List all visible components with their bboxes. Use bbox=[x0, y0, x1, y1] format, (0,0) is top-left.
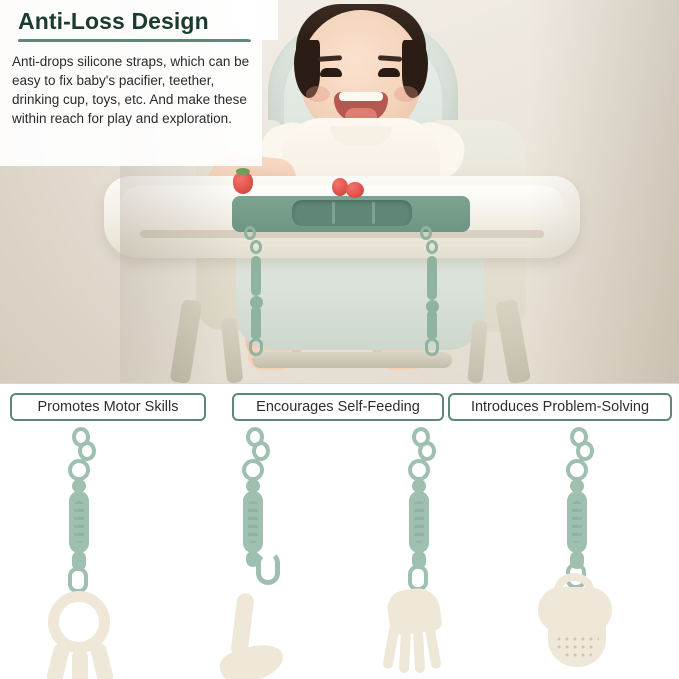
section-divider bbox=[0, 383, 679, 384]
strap-ring-icon bbox=[408, 459, 430, 481]
plate-compartment bbox=[292, 200, 412, 226]
product-infographic: Anti-Loss Design Anti-drops silicone str… bbox=[0, 0, 679, 679]
strap-ring-icon bbox=[68, 459, 90, 481]
strap-clip-icon bbox=[68, 567, 88, 593]
title-underline bbox=[18, 39, 251, 42]
photo-vignette-right bbox=[529, 0, 679, 383]
plate-divider bbox=[372, 202, 375, 224]
feature-title-block: Anti-Loss Design bbox=[18, 8, 254, 42]
baby-cheek-right bbox=[394, 86, 418, 102]
teether-finger bbox=[399, 629, 411, 673]
product-hand-rake-teether-toy bbox=[344, 425, 514, 675]
teether-finger bbox=[424, 624, 441, 669]
strap-band bbox=[409, 491, 429, 553]
feeder-mesh-pouch bbox=[548, 625, 606, 667]
benefit-label-text: Promotes Motor Skills bbox=[37, 399, 178, 415]
strap-band bbox=[567, 491, 587, 553]
feature-text-panel: Anti-Loss Design Anti-drops silicone str… bbox=[0, 0, 262, 166]
panel-corner-curve bbox=[232, 0, 278, 40]
strap-clip-icon bbox=[408, 565, 428, 591]
product-fruit-feeder-pacifier bbox=[508, 425, 678, 675]
strap-clip-icon bbox=[256, 551, 280, 585]
teether-prong bbox=[45, 642, 71, 679]
product-spoon-toy bbox=[174, 425, 344, 675]
strap-band bbox=[243, 491, 263, 553]
benefit-label-encourages-self-feeding: Encourages Self-Feeding bbox=[232, 393, 444, 421]
benefit-label-promotes-motor-skills: Promotes Motor Skills bbox=[10, 393, 206, 421]
product-ring-teether-toy bbox=[4, 425, 174, 675]
strap-ring-icon bbox=[566, 459, 588, 481]
benefits-section: Promotes Motor Skills Encourages Self-Fe… bbox=[0, 383, 679, 679]
strawberry-icon bbox=[346, 182, 364, 198]
teether-prong bbox=[89, 642, 115, 679]
baby-cheek-left bbox=[306, 86, 330, 102]
baby-teeth bbox=[339, 92, 383, 101]
feature-description: Anti-drops silicone straps, which can be… bbox=[12, 52, 256, 128]
page-title: Anti-Loss Design bbox=[18, 8, 209, 35]
benefit-label-text: Introduces Problem-Solving bbox=[471, 399, 649, 415]
plate-divider bbox=[332, 202, 335, 224]
spoon-bowl bbox=[217, 640, 287, 679]
strap-band bbox=[69, 491, 89, 553]
strap-ring-icon bbox=[242, 459, 264, 481]
benefit-label-text: Encourages Self-Feeding bbox=[256, 399, 420, 415]
baby-eye-left bbox=[320, 68, 342, 77]
teether-prong bbox=[72, 649, 88, 679]
lifestyle-photo: Anti-Loss Design Anti-drops silicone str… bbox=[0, 0, 679, 383]
benefit-label-introduces-problem-solving: Introduces Problem-Solving bbox=[448, 393, 672, 421]
teether-finger bbox=[382, 624, 399, 669]
high-chair-footrest bbox=[252, 352, 452, 368]
baby-eye-right bbox=[378, 68, 400, 77]
teether-finger bbox=[413, 629, 425, 673]
